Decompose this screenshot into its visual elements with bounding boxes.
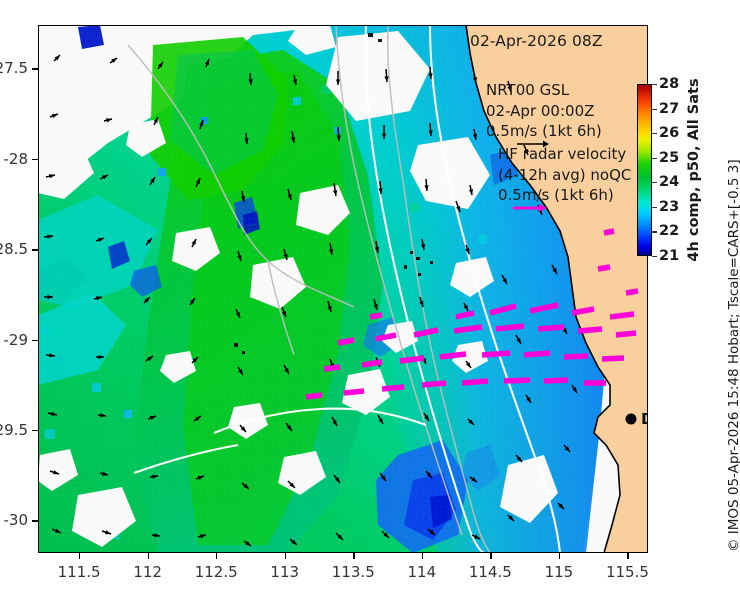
dongara-label: Dongara (641, 410, 648, 428)
colorbar-tick (652, 133, 657, 134)
map-figure: Dongara 200m 1000m 111.5112112.5113113.5… (0, 0, 740, 592)
sat-product-line: NRT00 GSL (486, 80, 602, 101)
x-tick-label: 113.5 (332, 563, 375, 581)
x-tick-label: 112.5 (195, 563, 238, 581)
hf-title-line: HF radar velocity (498, 144, 631, 165)
colorbar-tick-label: 28 (659, 76, 679, 92)
y-tick-label: -30 (4, 511, 29, 529)
colorbar-tick (652, 84, 657, 85)
colorbar-tick (652, 256, 657, 257)
x-tick-label: 114 (407, 563, 436, 581)
y-tick (32, 249, 38, 250)
y-tick (32, 520, 38, 521)
colorbar-tick (652, 182, 657, 183)
colorbar-tick-label: 27 (659, 101, 679, 117)
colorbar-tick (652, 231, 657, 232)
x-tick (353, 553, 354, 559)
x-tick-label: 114.5 (469, 563, 512, 581)
y-tick-label: -28.5 (0, 240, 28, 258)
y-tick-label: -28 (4, 150, 29, 168)
colorbar-tick-label: 23 (659, 199, 679, 215)
x-tick (285, 553, 286, 559)
dongara-marker (626, 414, 637, 425)
colorbar-tick-label: 22 (659, 223, 679, 239)
hfradar-legend-block: HF radar velocity (4-12h avg) noQC 0.5m/… (498, 144, 631, 206)
x-tick (627, 553, 628, 559)
y-tick (32, 159, 38, 160)
colorbar (637, 84, 652, 256)
colorbar-tick (652, 109, 657, 110)
colorbar-tick-label: 24 (659, 174, 679, 190)
colorbar-tick-label: 26 (659, 125, 679, 141)
colorbar-title: 4h comp, p50, All Sats (686, 78, 702, 261)
colorbar-gradient (637, 84, 652, 256)
colorbar-tick (652, 207, 657, 208)
x-tick (216, 553, 217, 559)
x-tick-label: 111.5 (58, 563, 101, 581)
y-tick-label: -27.5 (0, 59, 28, 77)
x-tick-label: 113 (270, 563, 299, 581)
y-tick-label: -29.5 (0, 421, 28, 439)
x-tick-label: 115 (545, 563, 574, 581)
credit-text: © IMOS 05-Apr-2026 15:48 Hobart; Tscale=… (726, 159, 740, 552)
y-tick (32, 68, 38, 69)
x-tick (148, 553, 149, 559)
x-tick-label: 115.5 (606, 563, 649, 581)
datetime-title: 02-Apr-2026 08Z (470, 32, 603, 50)
x-tick (422, 553, 423, 559)
sat-time-line: 02-Apr 00:00Z (486, 101, 602, 122)
hf-qc-line: (4-12h avg) noQC (498, 165, 631, 186)
colorbar-tick (652, 158, 657, 159)
x-tick (490, 553, 491, 559)
x-tick (79, 553, 80, 559)
x-tick (559, 553, 560, 559)
y-tick (32, 340, 38, 341)
y-tick-label: -29 (4, 331, 29, 349)
x-tick-label: 112 (133, 563, 162, 581)
y-tick (32, 430, 38, 431)
satellite-legend-block: NRT00 GSL 02-Apr 00:00Z 0.5m/s (1kt 6h) (486, 80, 602, 142)
hf-radar-reference-arrow (512, 203, 548, 213)
colorbar-tick-label: 21 (659, 248, 679, 264)
colorbar-tick-label: 25 (659, 150, 679, 166)
